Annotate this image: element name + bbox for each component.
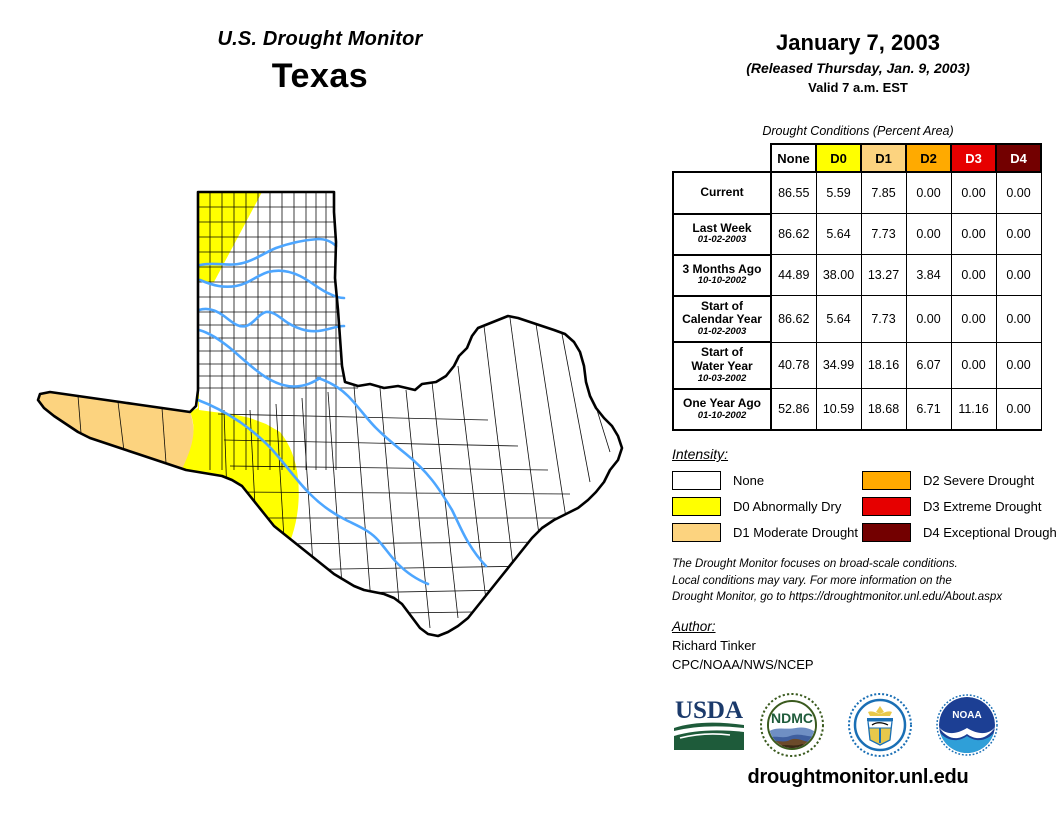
cell-r0-c4: 0.00: [951, 172, 996, 214]
row-label-date: 10-03-2002: [676, 374, 768, 385]
logo-strip: USDA NDMC: [660, 692, 1056, 758]
legend-label: D1 Moderate Drought: [733, 525, 858, 540]
title-block: U.S. Drought Monitor Texas: [0, 28, 640, 96]
column-header-d1: D1: [861, 144, 906, 172]
doc-logo: [846, 692, 914, 758]
legend-label: D0 Abnormally Dry: [733, 499, 841, 514]
cell-r5-c4: 11.16: [951, 389, 996, 431]
cell-r0-c0: 86.55: [771, 172, 816, 214]
cell-r2-c5: 0.00: [996, 255, 1041, 296]
usda-logo-text: USDA: [675, 697, 743, 724]
author-name: Richard Tinker: [672, 637, 814, 656]
legend-swatch: [862, 497, 911, 516]
usda-logo: USDA: [670, 692, 748, 754]
region-d1: [36, 392, 194, 622]
column-header-d2: D2: [906, 144, 951, 172]
cell-r4-c3: 6.07: [906, 342, 951, 389]
column-header-none: None: [771, 144, 816, 172]
cell-r5-c1: 10.59: [816, 389, 861, 431]
legend-item-left-0: None: [672, 468, 858, 492]
column-header-d4: D4: [996, 144, 1041, 172]
row-label-3: Start ofCalendar Year01-02-2003: [673, 296, 771, 343]
cell-r1-c5: 0.00: [996, 214, 1041, 255]
release-date: (Released Thursday, Jan. 9, 2003): [660, 60, 1056, 76]
cell-r0-c2: 7.85: [861, 172, 906, 214]
map-svg: [18, 170, 658, 790]
disclaimer-line-2: Local conditions may vary. For more info…: [672, 573, 1056, 590]
row-label-text: Last Week: [676, 222, 768, 236]
cell-r2-c1: 38.00: [816, 255, 861, 296]
row-label-text: Start ofWater Year: [676, 346, 768, 374]
ndmc-logo-text: NDMC: [771, 710, 813, 726]
legend-label: D4 Exceptional Drought: [923, 525, 1056, 540]
drought-conditions-table: None D0 D1 D2 D3 D4 Current86.555.597.85…: [672, 143, 1042, 431]
cell-r2-c2: 13.27: [861, 255, 906, 296]
cell-r3-c2: 7.73: [861, 296, 906, 343]
row-label-text: One Year Ago: [676, 397, 768, 411]
cell-r0-c5: 0.00: [996, 172, 1041, 214]
state-title: Texas: [0, 57, 640, 96]
disclaimer-line-3: Drought Monitor, go to https://droughtmo…: [672, 589, 1056, 606]
row-label-date: 01-10-2002: [676, 411, 768, 422]
legend-label: D2 Severe Drought: [923, 473, 1034, 488]
legend-swatch: [672, 471, 721, 490]
valid-time: Valid 7 a.m. EST: [660, 80, 1056, 95]
cell-r5-c3: 6.71: [906, 389, 951, 431]
legend-item-left-2: D1 Moderate Drought: [672, 520, 858, 544]
cell-r3-c3: 0.00: [906, 296, 951, 343]
row-label-4: Start ofWater Year10-03-2002: [673, 342, 771, 389]
cell-r2-c4: 0.00: [951, 255, 996, 296]
legend-swatch: [862, 523, 911, 542]
column-header-d0: D0: [816, 144, 861, 172]
cell-r1-c4: 0.00: [951, 214, 996, 255]
table-row: Current86.555.597.850.000.000.00: [673, 172, 1041, 214]
cell-r4-c2: 18.16: [861, 342, 906, 389]
table-row: Start ofCalendar Year01-02-200386.625.64…: [673, 296, 1041, 343]
author-title: Author:: [672, 619, 716, 634]
table-row: Start ofWater Year10-03-200240.7834.9918…: [673, 342, 1041, 389]
legend-item-right-1: D3 Extreme Drought: [862, 494, 1056, 518]
cell-r4-c5: 0.00: [996, 342, 1041, 389]
cell-r3-c1: 5.64: [816, 296, 861, 343]
cell-r4-c4: 0.00: [951, 342, 996, 389]
cell-r1-c0: 86.62: [771, 214, 816, 255]
cell-r1-c3: 0.00: [906, 214, 951, 255]
row-label-date: 01-02-2003: [676, 327, 768, 338]
header-spacer: [673, 144, 771, 172]
disclaimer-line-1: The Drought Monitor focuses on broad-sca…: [672, 556, 1056, 573]
table-row: One Year Ago01-10-200252.8610.5918.686.7…: [673, 389, 1041, 431]
row-label-text: Current: [676, 186, 768, 200]
legend-item-right-2: D4 Exceptional Drought: [862, 520, 1056, 544]
legend-label: None: [733, 473, 764, 488]
table-row: Last Week01-02-200386.625.647.730.000.00…: [673, 214, 1041, 255]
legend-column-left: NoneD0 Abnormally DryD1 Moderate Drought: [672, 468, 858, 546]
row-label-date: 10-10-2002: [676, 276, 768, 287]
table-row: 3 Months Ago10-10-200244.8938.0013.273.8…: [673, 255, 1041, 296]
column-header-d3: D3: [951, 144, 996, 172]
cell-r5-c2: 18.68: [861, 389, 906, 431]
author-block: Richard Tinker CPC/NOAA/NWS/NCEP: [672, 637, 814, 675]
legend-item-left-1: D0 Abnormally Dry: [672, 494, 858, 518]
cell-r3-c0: 86.62: [771, 296, 816, 343]
row-label-text: Start ofCalendar Year: [676, 300, 768, 328]
cell-r5-c5: 0.00: [996, 389, 1041, 431]
cell-r2-c0: 44.89: [771, 255, 816, 296]
cell-r4-c0: 40.78: [771, 342, 816, 389]
report-date: January 7, 2003: [660, 30, 1056, 56]
cell-r0-c1: 5.59: [816, 172, 861, 214]
row-label-0: Current: [673, 172, 771, 214]
noaa-logo: NOAA: [932, 692, 1002, 758]
cell-r3-c4: 0.00: [951, 296, 996, 343]
row-label-date: 01-02-2003: [676, 235, 768, 246]
table-header-row: None D0 D1 D2 D3 D4: [673, 144, 1041, 172]
cell-r0-c3: 0.00: [906, 172, 951, 214]
row-label-1: Last Week01-02-2003: [673, 214, 771, 255]
noaa-logo-text: NOAA: [952, 710, 981, 721]
cell-r1-c2: 7.73: [861, 214, 906, 255]
row-label-2: 3 Months Ago10-10-2002: [673, 255, 771, 296]
cell-r5-c0: 52.86: [771, 389, 816, 431]
intensity-title: Intensity:: [672, 446, 728, 462]
table-caption: Drought Conditions (Percent Area): [660, 124, 1056, 138]
legend-swatch: [672, 523, 721, 542]
texas-drought-map: [18, 170, 658, 790]
row-label-text: 3 Months Ago: [676, 263, 768, 277]
legend-item-right-0: D2 Severe Drought: [862, 468, 1056, 492]
legend-swatch: [672, 497, 721, 516]
site-url[interactable]: droughtmonitor.unl.edu: [660, 766, 1056, 789]
cell-r1-c1: 5.64: [816, 214, 861, 255]
date-block: January 7, 2003 (Released Thursday, Jan.…: [660, 30, 1056, 95]
page-title: U.S. Drought Monitor: [0, 28, 640, 51]
cell-r2-c3: 3.84: [906, 255, 951, 296]
ndmc-logo: NDMC: [756, 692, 828, 758]
legend-swatch: [862, 471, 911, 490]
disclaimer: The Drought Monitor focuses on broad-sca…: [672, 556, 1056, 606]
cell-r4-c1: 34.99: [816, 342, 861, 389]
cell-r3-c5: 0.00: [996, 296, 1041, 343]
legend-label: D3 Extreme Drought: [923, 499, 1042, 514]
row-label-5: One Year Ago01-10-2002: [673, 389, 771, 431]
legend-column-right: D2 Severe DroughtD3 Extreme DroughtD4 Ex…: [862, 468, 1056, 546]
author-affiliation: CPC/NOAA/NWS/NCEP: [672, 656, 814, 675]
